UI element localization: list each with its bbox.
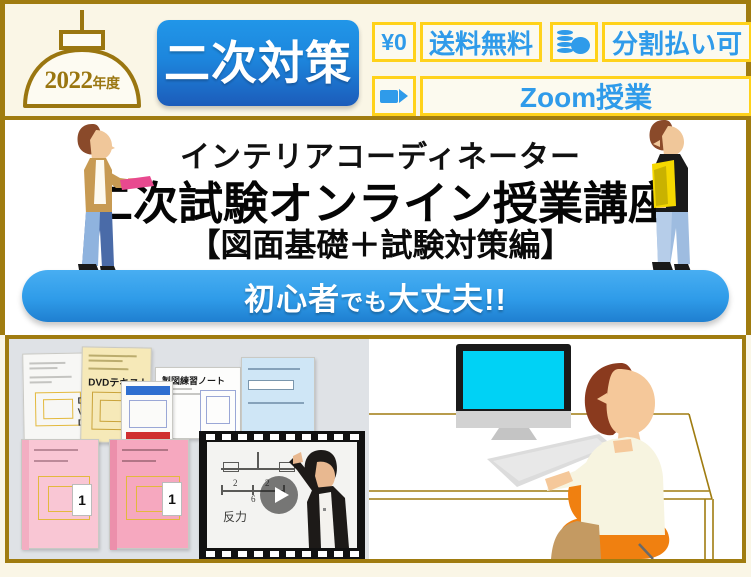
whiteboard-label: 反力 <box>223 508 247 525</box>
play-icon[interactable] <box>260 476 298 514</box>
year-number: 2022 <box>45 67 93 94</box>
coin-stack-icon <box>557 30 591 54</box>
beginner-friendly-label: 初心者でも大丈夫!! <box>244 274 507 319</box>
secondary-exam-badge[interactable]: 二次対策 <box>157 20 359 106</box>
list-item: 1 <box>109 439 189 549</box>
chip-camera-icon-box <box>372 76 416 116</box>
year-label: 2022年度 <box>19 67 145 95</box>
zoom-lesson-label: Zoom授業 <box>520 76 652 116</box>
online-study-illustration <box>369 339 742 559</box>
pill-text-tail: 大丈夫!! <box>388 282 507 317</box>
chip-installment-payment: 分割払い可 <box>602 22 751 62</box>
year-suffix: 年度 <box>93 77 120 92</box>
secondary-exam-badge-label: 二次対策 <box>164 40 352 86</box>
list-item <box>121 381 173 445</box>
video-camera-icon <box>380 89 408 103</box>
pill-text-main: 初心者 <box>244 282 340 317</box>
free-shipping-label: 送料無料 <box>429 24 533 61</box>
chip-zoom-lesson: Zoom授業 <box>420 76 751 116</box>
student-legs <box>551 521 601 559</box>
monitor-screen <box>463 351 564 409</box>
banner-header: 2022年度 二次対策 ¥0 送料無料 分割払い可 <box>0 0 751 120</box>
chip-yen-zero: ¥0 <box>372 22 416 62</box>
chip-free-shipping: 送料無料 <box>420 22 542 62</box>
lecture-video-thumbnail[interactable]: 2 2 6 反力 <box>199 431 365 559</box>
lamp-icon <box>19 10 145 114</box>
installment-label: 分割払い可 <box>612 24 742 61</box>
course-promo-banner: 2022年度 二次対策 ¥0 送料無料 分割払い可 <box>0 0 751 577</box>
pill-text-small: でも <box>340 289 388 315</box>
desk-scene <box>369 339 742 559</box>
beginner-friendly-pill: 初心者でも大丈夫!! <box>22 270 729 322</box>
photo-frame: DVD DVDテキスト 製図練習ノート <box>5 335 746 563</box>
whiteboard-photo: 2 2 6 反力 <box>207 442 357 548</box>
yen-zero-icon: ¥0 <box>381 29 407 56</box>
chip-coin-icon-box <box>550 22 598 62</box>
year-lamp-badge: 2022年度 <box>19 10 145 114</box>
person-right-illustration <box>630 112 718 287</box>
course-materials-photo: DVD DVDテキスト 製図練習ノート <box>9 339 369 559</box>
person-left-illustration <box>62 118 154 288</box>
list-item: 1 <box>21 439 99 549</box>
photo-section: DVD DVDテキスト 製図練習ノート <box>0 335 751 577</box>
